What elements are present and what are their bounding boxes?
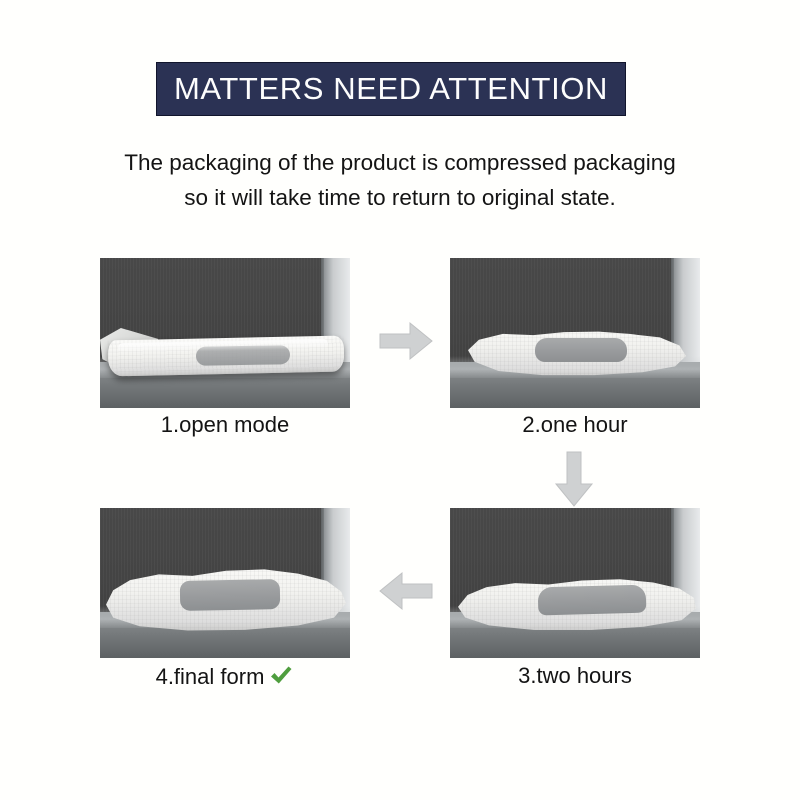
subtitle-block: The packaging of the product is compress… [80, 145, 720, 215]
step-4-photo-cell [100, 508, 350, 658]
step-3-photo-cell [450, 508, 700, 658]
step-1-photo [100, 258, 350, 408]
step-1-caption-text: 1.open mode [161, 412, 289, 437]
step-3-caption-text: 3.two hours [518, 663, 632, 688]
step-3-photo [450, 508, 700, 658]
step-2-photo-cell [450, 258, 700, 408]
arrow-left-icon [378, 570, 434, 617]
step-3-caption: 3.two hours [450, 663, 700, 689]
pillow-gray-center-panel [535, 338, 627, 362]
subtitle-line-1: The packaging of the product is compress… [80, 145, 720, 180]
arrow-down-icon [553, 450, 595, 513]
step-1-photo-cell [100, 258, 350, 408]
step-1-caption: 1.open mode [100, 412, 350, 438]
pillow-gray-center-panel [538, 585, 647, 616]
step-4-photo [100, 508, 350, 658]
page-title-banner: MATTERS NEED ATTENTION [156, 62, 626, 116]
arrow-right-icon [378, 320, 434, 367]
page-title: MATTERS NEED ATTENTION [174, 71, 608, 107]
green-check-icon [268, 663, 294, 693]
subtitle-line-2: so it will take time to return to origin… [80, 180, 720, 215]
step-2-photo [450, 258, 700, 408]
step-4-caption-text: 4.final form [156, 664, 265, 689]
step-2-caption-text: 2.one hour [522, 412, 627, 437]
pillow-gray-center-panel [180, 579, 281, 611]
step-4-caption: 4.final form [100, 663, 350, 693]
step-2-caption: 2.one hour [450, 412, 700, 438]
